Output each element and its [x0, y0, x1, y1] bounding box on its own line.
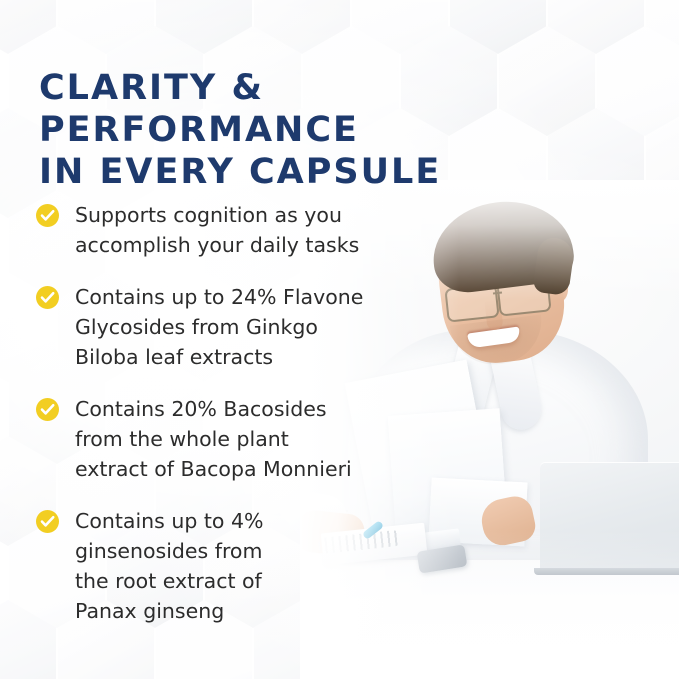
list-item: Supports cognition as you accomplish you… — [36, 200, 388, 260]
list-item-label: Contains up to 4% ginsenosides from the … — [75, 509, 263, 623]
check-circle-icon — [36, 510, 59, 533]
list-item: Contains up to 24% Flavone Glycosides fr… — [36, 282, 388, 372]
benefits-list: Supports cognition as you accomplish you… — [36, 200, 388, 648]
page-title: Clarity & Performance in every capsule — [39, 67, 441, 193]
check-circle-icon — [36, 398, 59, 421]
list-item: Contains 20% Bacosides from the whole pl… — [36, 394, 388, 484]
promo-image-canvas: Clarity & Performance in every capsule S… — [0, 0, 679, 679]
list-item: Contains up to 4% ginsenosides from the … — [36, 506, 388, 626]
list-item-label: Contains up to 24% Flavone Glycosides fr… — [75, 285, 363, 369]
list-item-label: Contains 20% Bacosides from the whole pl… — [75, 397, 352, 481]
list-item-label: Supports cognition as you accomplish you… — [75, 203, 359, 257]
content-layer: Clarity & Performance in every capsule S… — [0, 0, 679, 679]
check-circle-icon — [36, 286, 59, 309]
check-circle-icon — [36, 204, 59, 227]
